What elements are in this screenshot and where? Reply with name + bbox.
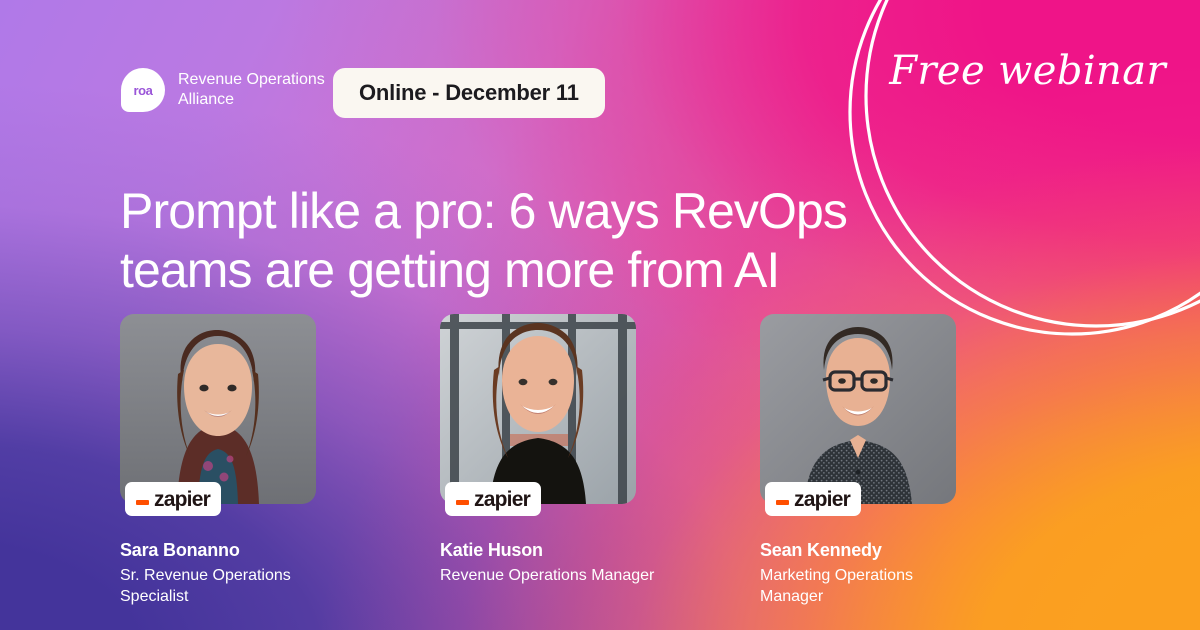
speaker-name: Katie Huson bbox=[440, 540, 760, 561]
event-date-text: Online - December 11 bbox=[359, 80, 579, 106]
zapier-wordmark: zapier bbox=[154, 489, 210, 510]
speaker-meta: Katie Huson Revenue Operations Manager bbox=[440, 540, 760, 587]
zapier-dash-icon bbox=[456, 500, 469, 505]
speaker-photo-wrap: zapier bbox=[440, 314, 636, 504]
page-title: Prompt like a pro: 6 ways RevOps teams a… bbox=[120, 182, 980, 300]
webinar-promo-card: roa Revenue Operations Alliance Online -… bbox=[0, 0, 1200, 630]
speaker-card: zapier Sara Bonanno Sr. Revenue Operatio… bbox=[120, 314, 440, 608]
speaker-name: Sean Kennedy bbox=[760, 540, 1080, 561]
speakers-list: zapier Sara Bonanno Sr. Revenue Operatio… bbox=[120, 314, 1080, 608]
roa-speech-bubble-logo-icon: roa bbox=[121, 68, 165, 112]
speaker-portrait-sara-bonanno bbox=[120, 314, 316, 504]
speaker-name: Sara Bonanno bbox=[120, 540, 440, 561]
speaker-role: Marketing Operations Manager bbox=[760, 566, 975, 608]
zapier-wordmark: zapier bbox=[474, 489, 530, 510]
brand-lockup: roa Revenue Operations Alliance bbox=[121, 68, 358, 112]
speaker-role: Sr. Revenue Operations Specialist bbox=[120, 566, 335, 608]
speaker-role: Revenue Operations Manager bbox=[440, 566, 655, 587]
zapier-logo-icon: zapier bbox=[125, 482, 221, 516]
speaker-card: zapier Sean Kennedy Marketing Operations… bbox=[760, 314, 1080, 608]
brand-name: Revenue Operations Alliance bbox=[178, 70, 358, 111]
zapier-dash-icon bbox=[776, 500, 789, 505]
speaker-portrait-katie-huson bbox=[440, 314, 636, 504]
speaker-portrait-sean-kennedy bbox=[760, 314, 956, 504]
zapier-logo-icon: zapier bbox=[765, 482, 861, 516]
brand-mark-text: roa bbox=[133, 84, 152, 97]
zapier-dash-icon bbox=[136, 500, 149, 505]
free-webinar-badge: Free webinar bbox=[889, 48, 1166, 94]
zapier-wordmark: zapier bbox=[794, 489, 850, 510]
event-date-pill: Online - December 11 bbox=[333, 68, 605, 118]
speaker-photo-wrap: zapier bbox=[120, 314, 316, 504]
speaker-meta: Sara Bonanno Sr. Revenue Operations Spec… bbox=[120, 540, 440, 608]
speaker-card: zapier Katie Huson Revenue Operations Ma… bbox=[440, 314, 760, 608]
speaker-meta: Sean Kennedy Marketing Operations Manage… bbox=[760, 540, 1080, 608]
zapier-logo-icon: zapier bbox=[445, 482, 541, 516]
speaker-photo-wrap: zapier bbox=[760, 314, 956, 504]
